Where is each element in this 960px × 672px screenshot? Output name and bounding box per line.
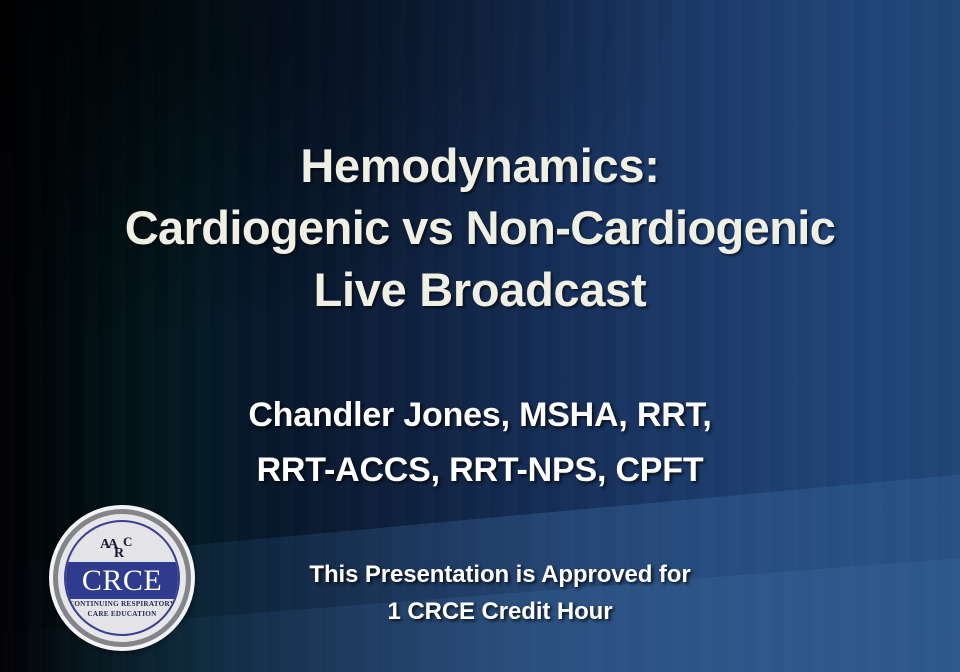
seal-face: A A C R CRCE CONTINUING RESPIRATORY CARE… [66, 522, 178, 634]
presenter-line-2: RRT-ACCS, RRT-NPS, CPFT [0, 443, 960, 498]
title-slide: Hemodynamics: Cardiogenic vs Non-Cardiog… [0, 0, 960, 672]
slide-content: Hemodynamics: Cardiogenic vs Non-Cardiog… [0, 0, 960, 672]
seal-subtitle: CONTINUING RESPIRATORY CARE EDUCATION [66, 600, 178, 619]
seal-primary-band: CRCE [66, 562, 178, 599]
presenter-credits: Chandler Jones, MSHA, RRT, RRT-ACCS, RRT… [0, 388, 960, 498]
title-line-2: Cardiogenic vs Non-Cardiogenic [0, 197, 960, 259]
credit-approval-notice: This Presentation is Approved for 1 CRCE… [180, 556, 820, 630]
slide-title: Hemodynamics: Cardiogenic vs Non-Cardiog… [0, 135, 960, 321]
aarc-monogram-icon: A A C R [66, 534, 178, 562]
seal-primary-text: CRCE [82, 566, 162, 596]
title-line-3: Live Broadcast [0, 259, 960, 321]
svg-text:R: R [114, 546, 125, 561]
seal-subtitle-line-1: CONTINUING RESPIRATORY [66, 600, 178, 610]
approval-line-1: This Presentation is Approved for [180, 556, 820, 593]
seal-subtitle-line-2: CARE EDUCATION [66, 610, 178, 620]
title-line-1: Hemodynamics: [0, 135, 960, 197]
approval-line-2: 1 CRCE Credit Hour [180, 593, 820, 630]
svg-text:C: C [123, 535, 132, 549]
crce-seal-icon: A A C R CRCE CONTINUING RESPIRATORY CARE… [49, 505, 195, 651]
presenter-line-1: Chandler Jones, MSHA, RRT, [0, 388, 960, 443]
